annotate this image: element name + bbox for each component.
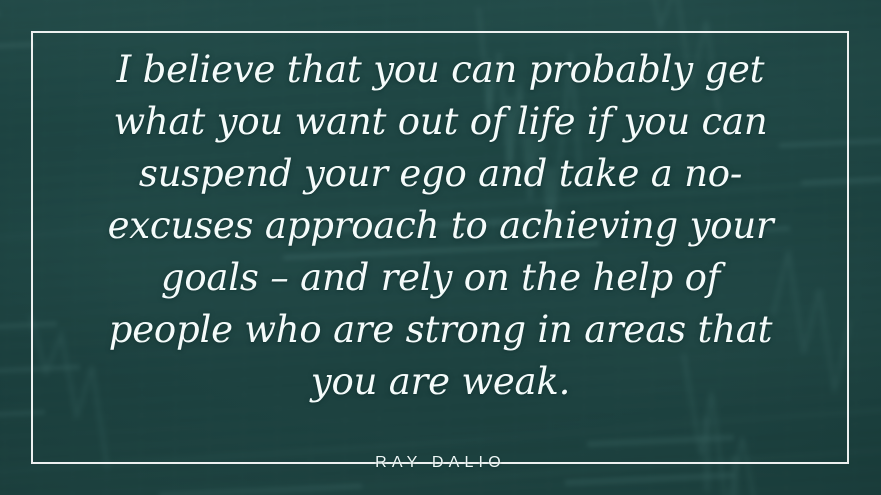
quote-card: I believe that you can probably get what… bbox=[0, 0, 881, 495]
quote-text: I believe that you can probably get what… bbox=[46, 44, 836, 408]
card-content: I believe that you can probably get what… bbox=[31, 31, 850, 464]
quote-attribution: RAY DALIO bbox=[375, 454, 506, 472]
